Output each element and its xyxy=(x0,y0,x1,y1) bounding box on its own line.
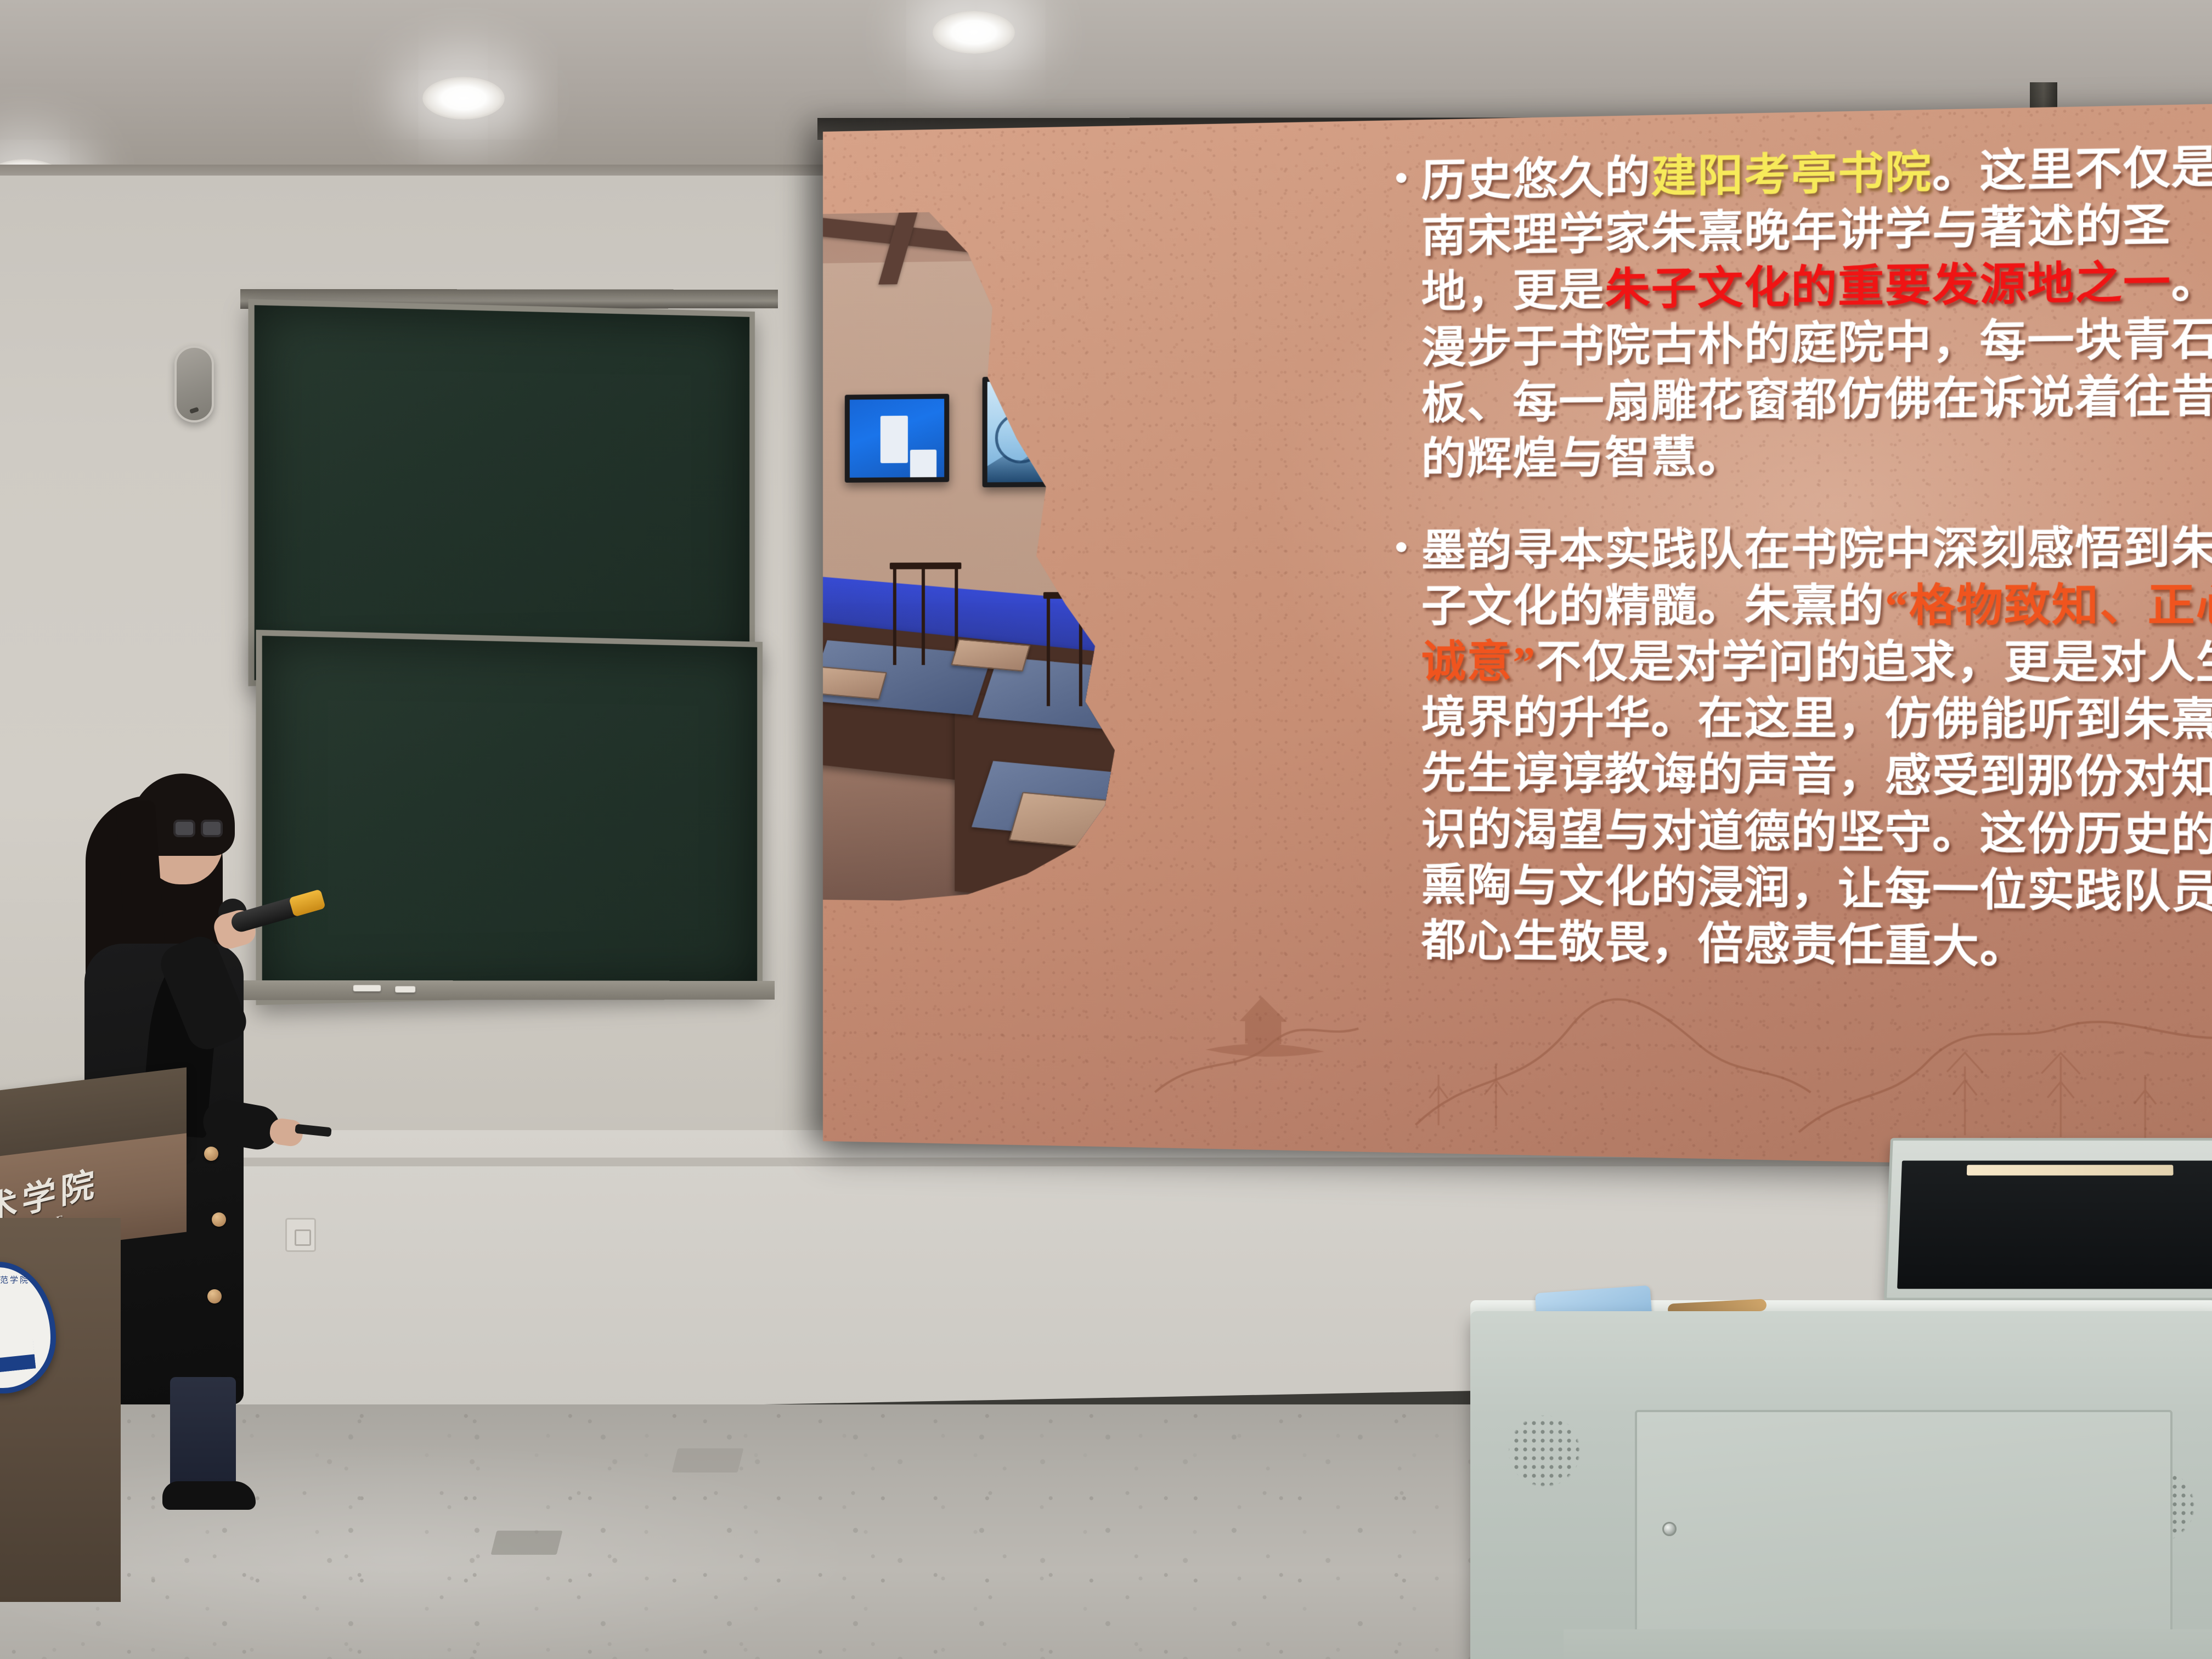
coat-button-icon xyxy=(207,1289,222,1304)
photo-book-icon xyxy=(823,667,887,700)
slide-bullet-1: 历史悠久的建阳考亭书院。这里不仅是南宋理学家朱熹晚年讲学与著述的圣地，更是朱子文… xyxy=(1421,138,2212,487)
blackboard-panel-lower xyxy=(256,630,763,1005)
projection-screen[interactable]: 历史悠久的建阳考亭书院。这里不仅是南宋理学家朱熹晚年讲学与著述的圣地，更是朱子文… xyxy=(823,103,2212,1171)
console-monitor-screen[interactable] xyxy=(1897,1161,2212,1289)
console-screen-reflection xyxy=(1967,1165,2174,1175)
console-speaker-grille-icon xyxy=(1503,1410,1585,1492)
run-red: 朱子文化的重要发源地之一 xyxy=(1605,257,2171,314)
slide-bullet-2: 墨韵寻本实践队在书院中深刻感悟到朱子文化的精髓。朱熹的“格物致知、正心诚意”不仅… xyxy=(1421,520,2212,979)
console-cabinet xyxy=(1470,1311,2212,1659)
run-white: 历史悠久的 xyxy=(1421,153,1651,206)
photo-display-card xyxy=(910,449,936,481)
blackboard-surface xyxy=(255,305,749,680)
floor-mark xyxy=(672,1448,744,1472)
wall-outlet-icon xyxy=(285,1218,316,1252)
classroom-photo-scene: 历史悠久的建阳考亭书院。这里不仅是南宋理学家朱熹晚年讲学与著述的圣地，更是朱子文… xyxy=(0,0,2212,1659)
photo-display-left xyxy=(845,394,949,483)
console-monitor-lid[interactable] xyxy=(1884,1138,2212,1300)
run-yellow: 建阳考亭书院 xyxy=(1651,148,1932,202)
slide-bullet-1-text: 历史悠久的建阳考亭书院。这里不仅是南宋理学家朱熹晚年讲学与著述的圣地，更是朱子文… xyxy=(1421,138,2212,487)
photo-brush-stand-icon xyxy=(893,566,896,665)
lectern-podium[interactable]: 技术学院 NICAL COLLEGE 福建技术师范学院 教 xyxy=(0,1081,187,1591)
console-lock-icon[interactable] xyxy=(1662,1522,1677,1536)
slide-bullet-2-text: 墨韵寻本实践队在书院中深刻感悟到朱子文化的精髓。朱熹的“格物致知、正心诚意”不仅… xyxy=(1421,520,2212,979)
photo-brush-stand-icon xyxy=(1047,595,1050,706)
wall-speaker-icon xyxy=(174,346,214,422)
console-cabinet-door[interactable] xyxy=(1635,1410,2172,1651)
floor-mark xyxy=(491,1531,563,1555)
coat-button-icon xyxy=(212,1212,226,1227)
console-plinth xyxy=(1564,1629,2212,1659)
glasses-lens-right xyxy=(201,820,223,837)
emblem-arc-text: 福建技术师范学院 xyxy=(0,1274,47,1323)
run-white: 不仅是对学问的追求，更是对人生境界的升华。在这里，仿佛能听到朱熹先生谆谆教诲的声… xyxy=(1421,637,2212,972)
photo-brush-stand-icon xyxy=(922,566,925,665)
chalk-piece-icon xyxy=(353,985,381,991)
college-emblem: 福建技术师范学院 教 xyxy=(0,1262,56,1393)
coat-button-icon xyxy=(204,1147,218,1161)
glasses-lens-left xyxy=(173,820,195,837)
ceiling-downlight-icon xyxy=(422,77,505,120)
photo-brush-stand-icon xyxy=(890,562,962,569)
glasses-icon xyxy=(173,820,224,838)
blackboard-surface xyxy=(262,636,757,999)
photo-display-card xyxy=(881,416,908,464)
chalk-rail xyxy=(244,980,775,1000)
chalk-piece-icon xyxy=(395,986,415,993)
teaching-console[interactable] xyxy=(1470,1278,2212,1659)
slide-text-block: 历史悠久的建阳考亭书院。这里不仅是南宋理学家朱熹晚年讲学与著述的圣地，更是朱子文… xyxy=(1421,138,2212,1016)
ceiling-downlight-icon xyxy=(933,11,1015,54)
blackboard-panel-upper xyxy=(249,299,755,686)
